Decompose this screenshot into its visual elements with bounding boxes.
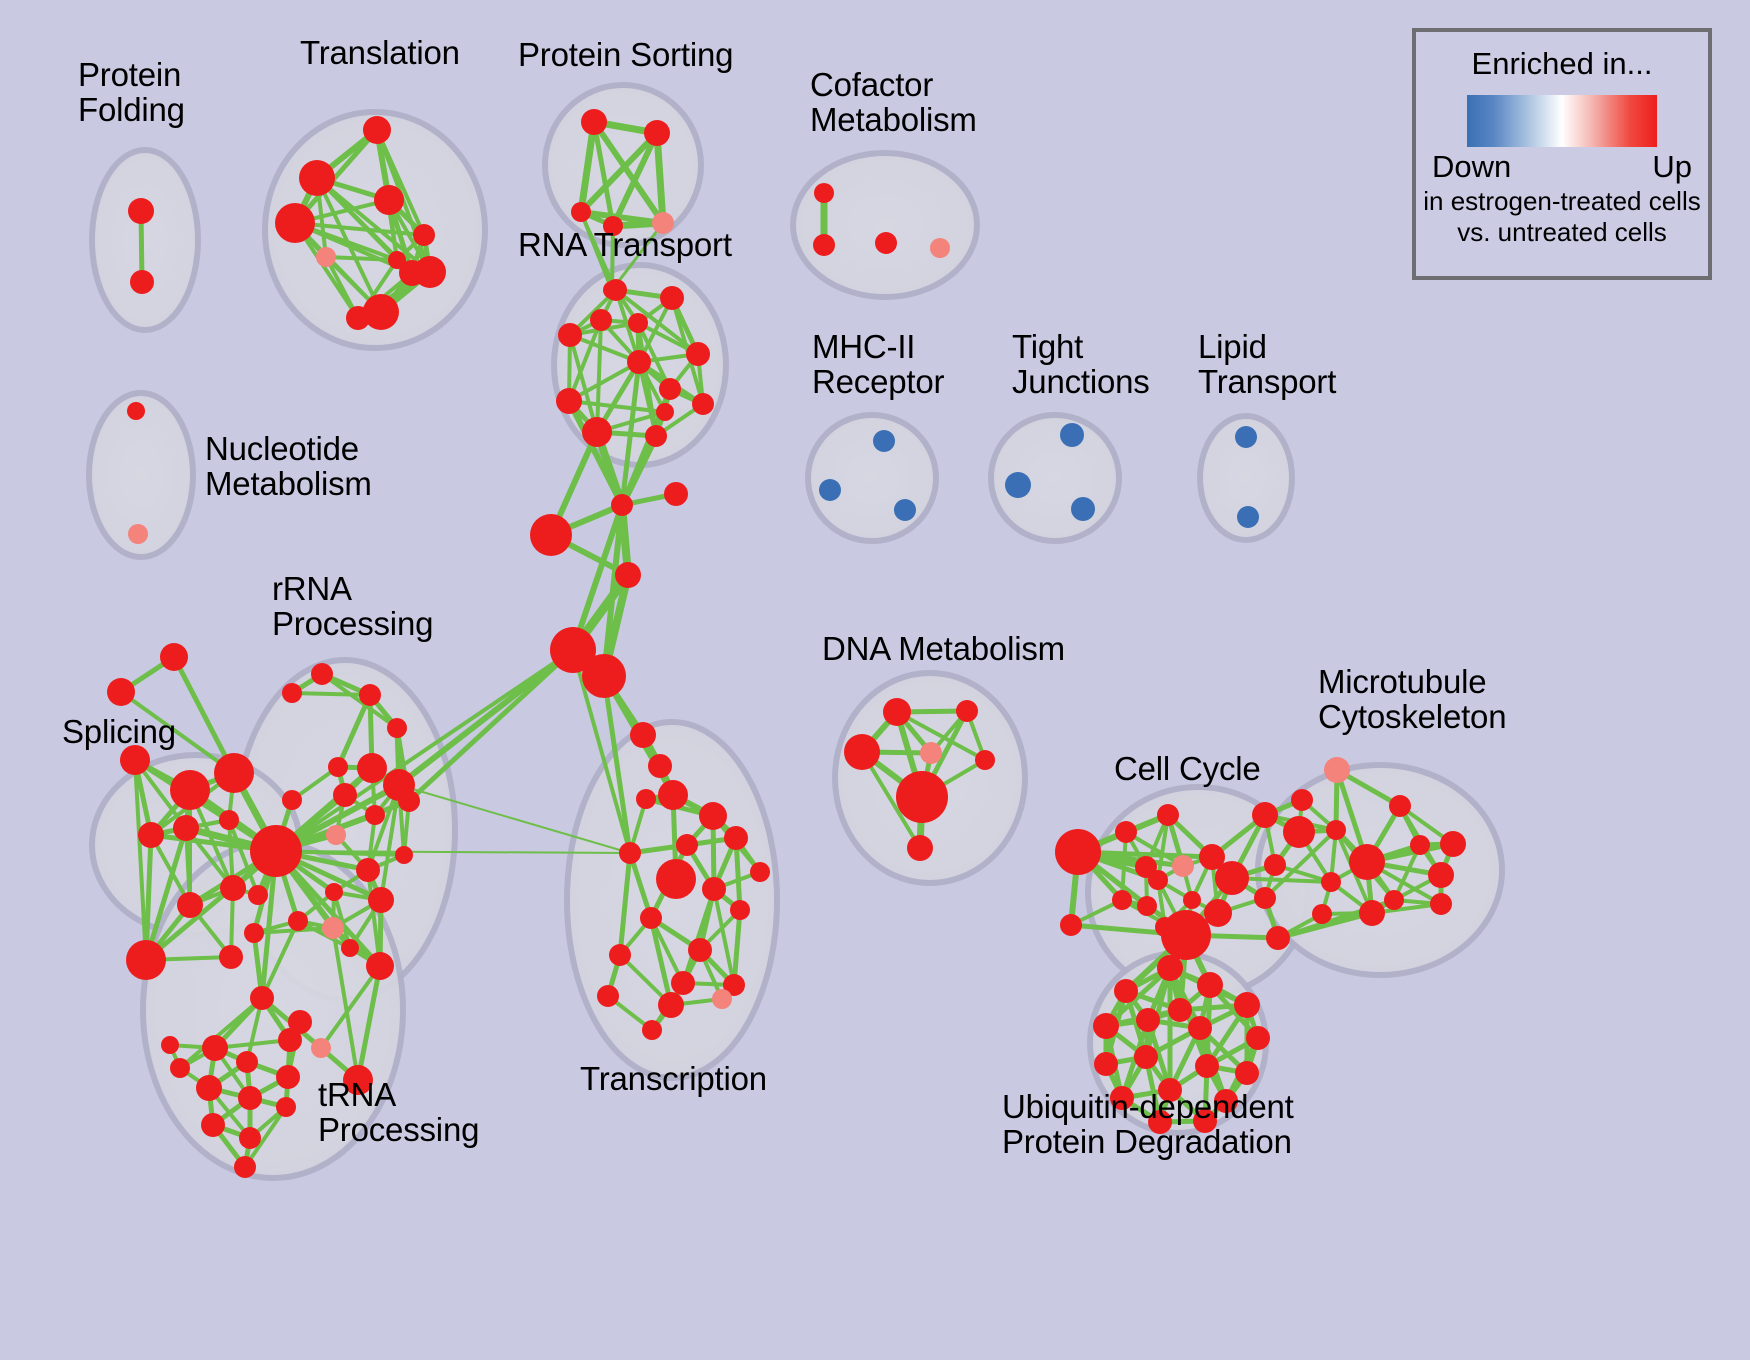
network-node[interactable] [1168, 998, 1192, 1022]
network-node[interactable] [930, 238, 950, 258]
network-node[interactable] [126, 940, 166, 980]
network-node[interactable] [288, 911, 308, 931]
network-node[interactable] [627, 350, 651, 374]
cluster-label-nucleotide-metabolism: NucleotideMetabolism [205, 432, 372, 502]
network-node[interactable] [648, 754, 672, 778]
network-node[interactable] [368, 887, 394, 913]
network-node[interactable] [659, 378, 681, 400]
network-node[interactable] [214, 753, 254, 793]
network-node[interactable] [311, 663, 333, 685]
cluster-label-line: Metabolism [810, 103, 977, 138]
network-node[interactable] [128, 198, 154, 224]
network-node[interactable] [170, 1058, 190, 1078]
network-node[interactable] [177, 892, 203, 918]
network-node[interactable] [1157, 955, 1183, 981]
cluster-label-line: Processing [272, 607, 433, 642]
network-node[interactable] [896, 771, 948, 823]
network-node[interactable] [196, 1075, 222, 1101]
network-node[interactable] [276, 1065, 300, 1089]
network-node[interactable] [656, 403, 674, 421]
network-node[interactable] [605, 279, 627, 301]
network-node[interactable] [363, 294, 399, 330]
network-edge [292, 693, 370, 695]
network-node[interactable] [1204, 899, 1232, 927]
network-node[interactable] [630, 722, 656, 748]
network-node[interactable] [636, 789, 656, 809]
network-node[interactable] [202, 1035, 228, 1061]
network-node[interactable] [326, 825, 346, 845]
network-node[interactable] [1324, 757, 1350, 783]
cluster-label-line: Transport [1198, 365, 1336, 400]
network-node[interactable] [234, 1156, 256, 1178]
network-node[interactable] [1410, 835, 1430, 855]
network-node[interactable] [282, 790, 302, 810]
network-node[interactable] [628, 313, 648, 333]
cluster-label-mhc-ii-receptor: MHC-IIReceptor [812, 330, 944, 400]
network-node[interactable] [1326, 820, 1346, 840]
network-node[interactable] [1183, 891, 1201, 909]
network-node[interactable] [1112, 890, 1132, 910]
cluster-label-rna-transport: RNA Transport [518, 228, 732, 263]
network-node[interactable] [161, 1036, 179, 1054]
network-node[interactable] [1389, 795, 1411, 817]
network-node[interactable] [1195, 1054, 1219, 1078]
network-node[interactable] [127, 402, 145, 420]
network-node[interactable] [1264, 854, 1286, 876]
network-node[interactable] [173, 815, 199, 841]
cluster-label-line: Metabolism [205, 467, 372, 502]
network-node[interactable] [366, 952, 394, 980]
cluster-hull-mhc-ii-receptor [808, 415, 936, 541]
network-node[interactable] [1428, 862, 1454, 888]
network-node[interactable] [390, 771, 408, 789]
network-node[interactable] [311, 1038, 331, 1058]
network-node[interactable] [363, 116, 391, 144]
network-node[interactable] [413, 224, 435, 246]
network-node[interactable] [220, 875, 246, 901]
network-node[interactable] [819, 479, 841, 501]
network-node[interactable] [664, 482, 688, 506]
network-node[interactable] [387, 718, 407, 738]
network-node[interactable] [640, 907, 662, 929]
network-node[interactable] [1215, 861, 1249, 895]
cluster-label-line: tRNA [318, 1078, 479, 1113]
cluster-label-line: rRNA [272, 572, 433, 607]
network-node[interactable] [558, 323, 582, 347]
network-node[interactable] [1094, 1052, 1118, 1076]
network-node[interactable] [236, 1051, 258, 1073]
network-node[interactable] [275, 203, 315, 243]
cluster-label-line: Processing [318, 1113, 479, 1148]
network-node[interactable] [288, 1010, 312, 1034]
cluster-label-line: Folding [78, 93, 185, 128]
network-node[interactable] [359, 684, 381, 706]
cluster-label-line: Cell Cycle [1114, 752, 1261, 787]
network-node[interactable] [692, 393, 714, 415]
network-node[interactable] [239, 1127, 261, 1149]
network-node[interactable] [357, 753, 387, 783]
cluster-label-line: Protein Degradation [1002, 1125, 1294, 1160]
network-node[interactable] [875, 232, 897, 254]
network-node[interactable] [333, 783, 357, 807]
network-node[interactable] [276, 1097, 296, 1117]
network-node[interactable] [250, 986, 274, 1010]
legend-down-label: Down [1432, 149, 1511, 185]
network-node[interactable] [1115, 821, 1137, 843]
network-node[interactable] [325, 883, 343, 901]
network-node[interactable] [1148, 870, 1168, 890]
network-node[interactable] [170, 770, 210, 810]
network-node[interactable] [642, 1020, 662, 1040]
network-node[interactable] [1188, 1016, 1212, 1040]
cluster-label-cell-cycle: Cell Cycle [1114, 752, 1261, 787]
network-node[interactable] [1055, 829, 1101, 875]
cluster-label-dna-metabolism: DNA Metabolism [822, 632, 1065, 667]
cluster-label-protein-folding: ProteinFolding [78, 58, 185, 128]
network-node[interactable] [656, 859, 696, 899]
network-node[interactable] [894, 499, 916, 521]
network-node[interactable] [1266, 926, 1290, 950]
cluster-hull-transcription [567, 722, 777, 1078]
network-node[interactable] [1384, 890, 1404, 910]
cluster-label-line: Cofactor [810, 68, 977, 103]
network-node[interactable] [699, 802, 727, 830]
network-node[interactable] [1161, 910, 1211, 960]
cluster-label-line: DNA Metabolism [822, 632, 1065, 667]
cluster-label-line: Junctions [1012, 365, 1150, 400]
legend-caption-line1: in estrogen-treated cells [1416, 187, 1708, 216]
network-node[interactable] [130, 270, 154, 294]
network-node[interactable] [138, 822, 164, 848]
cluster-label-line: Transcription [580, 1062, 767, 1097]
network-node[interactable] [883, 698, 911, 726]
network-node[interactable] [299, 160, 335, 196]
network-node[interactable] [660, 286, 684, 310]
network-node[interactable] [219, 945, 243, 969]
network-node[interactable] [201, 1113, 225, 1137]
network-node[interactable] [582, 654, 626, 698]
network-node[interactable] [609, 944, 631, 966]
network-node[interactable] [328, 757, 348, 777]
network-node[interactable] [530, 514, 572, 556]
cluster-label-line: Nucleotide [205, 432, 372, 467]
network-node[interactable] [316, 247, 336, 267]
legend-panel: Enriched in... Down Up in estrogen-treat… [1412, 28, 1712, 280]
network-node[interactable] [1197, 972, 1223, 998]
cluster-label-trna-processing: tRNAProcessing [318, 1078, 479, 1148]
network-node[interactable] [244, 923, 264, 943]
network-node[interactable] [975, 750, 995, 770]
network-node[interactable] [645, 425, 667, 447]
cluster-label-cofactor-metabolism: CofactorMetabolism [810, 68, 977, 138]
network-node[interactable] [1071, 497, 1095, 521]
network-node[interactable] [658, 780, 688, 810]
network-node[interactable] [590, 309, 612, 331]
cluster-label-line: MHC-II [812, 330, 944, 365]
network-node[interactable] [238, 1086, 262, 1110]
network-node[interactable] [688, 938, 712, 962]
network-node[interactable] [907, 835, 933, 861]
network-node[interactable] [1137, 896, 1157, 916]
cluster-label-line: Protein Sorting [518, 38, 733, 73]
network-node[interactable] [1172, 855, 1194, 877]
legend-colorbar [1467, 95, 1657, 147]
network-node[interactable] [1134, 1045, 1158, 1069]
cluster-label-translation: Translation [300, 36, 460, 71]
network-node[interactable] [1430, 893, 1452, 915]
cluster-label-tight-junctions: TightJunctions [1012, 330, 1150, 400]
network-node[interactable] [644, 120, 670, 146]
cluster-label-line: Tight [1012, 330, 1150, 365]
network-node[interactable] [1254, 887, 1276, 909]
cluster-label-line: Microtubule [1318, 665, 1506, 700]
legend-endpoints: Down Up [1416, 147, 1708, 185]
cluster-label-line: Receptor [812, 365, 944, 400]
network-node[interactable] [712, 989, 732, 1009]
network-node[interactable] [1283, 816, 1315, 848]
network-node[interactable] [282, 683, 302, 703]
network-node[interactable] [597, 985, 619, 1007]
network-node[interactable] [814, 183, 834, 203]
network-node[interactable] [582, 417, 612, 447]
network-node[interactable] [1359, 900, 1385, 926]
network-node[interactable] [341, 939, 359, 957]
cluster-label-line: Cytoskeleton [1318, 700, 1506, 735]
cluster-label-line: Translation [300, 36, 460, 71]
network-node[interactable] [250, 825, 302, 877]
cluster-label-protein-sorting: Protein Sorting [518, 38, 733, 73]
network-node[interactable] [414, 256, 446, 288]
network-node[interactable] [873, 430, 895, 452]
network-node[interactable] [322, 917, 344, 939]
cluster-label-rrna-processing: rRNAProcessing [272, 572, 433, 642]
network-node[interactable] [1349, 844, 1385, 880]
network-node[interactable] [1235, 426, 1257, 448]
network-node[interactable] [128, 524, 148, 544]
network-node[interactable] [107, 678, 135, 706]
network-node[interactable] [1157, 804, 1179, 826]
network-node[interactable] [248, 885, 268, 905]
legend-title: Enriched in... [1416, 46, 1708, 82]
network-node[interactable] [619, 842, 641, 864]
network-node[interactable] [556, 388, 582, 414]
network-node[interactable] [160, 643, 188, 671]
cluster-hull-protein-folding [92, 150, 198, 330]
network-node[interactable] [1060, 914, 1082, 936]
cluster-label-line: Lipid [1198, 330, 1336, 365]
network-node[interactable] [1291, 789, 1313, 811]
network-node[interactable] [1114, 979, 1138, 1003]
cluster-label-lipid-transport: LipidTransport [1198, 330, 1336, 400]
network-node[interactable] [356, 858, 380, 882]
network-node[interactable] [1321, 872, 1341, 892]
legend-up-label: Up [1652, 149, 1692, 185]
network-node[interactable] [844, 734, 880, 770]
cluster-label-microtubule-cytoskeleton: MicrotubuleCytoskeleton [1318, 665, 1506, 735]
cluster-label-line: Splicing [62, 715, 176, 750]
network-node[interactable] [658, 992, 684, 1018]
network-node[interactable] [750, 862, 770, 882]
network-node[interactable] [611, 494, 633, 516]
network-node[interactable] [920, 742, 942, 764]
network-node[interactable] [686, 342, 710, 366]
network-node[interactable] [1440, 831, 1466, 857]
network-node[interactable] [1060, 423, 1084, 447]
cluster-label-ubiquitin-protein-degradation: Ubiquitin-dependentProtein Degradation [1002, 1090, 1294, 1160]
network-node[interactable] [1235, 1061, 1259, 1085]
network-node[interactable] [676, 834, 698, 856]
network-figure: ProteinFoldingTranslationProtein Sorting… [0, 0, 1750, 1360]
network-node[interactable] [1005, 472, 1031, 498]
legend-caption-line2: vs. untreated cells [1416, 218, 1708, 247]
network-node[interactable] [365, 805, 385, 825]
network-node[interactable] [615, 562, 641, 588]
network-node[interactable] [671, 971, 695, 995]
cluster-label-line: Protein [78, 58, 185, 93]
cluster-label-line: Ubiquitin-dependent [1002, 1090, 1294, 1125]
network-node[interactable] [730, 900, 750, 920]
network-node[interactable] [1234, 992, 1260, 1018]
network-node[interactable] [813, 234, 835, 256]
network-node[interactable] [1312, 904, 1332, 924]
network-node[interactable] [702, 877, 726, 901]
network-node[interactable] [219, 810, 239, 830]
cluster-label-line: RNA Transport [518, 228, 732, 263]
network-node[interactable] [1237, 506, 1259, 528]
network-node[interactable] [581, 109, 607, 135]
network-node[interactable] [374, 185, 404, 215]
network-node[interactable] [1246, 1026, 1270, 1050]
network-node[interactable] [1093, 1013, 1119, 1039]
cluster-label-transcription: Transcription [580, 1062, 767, 1097]
network-node[interactable] [956, 700, 978, 722]
network-node[interactable] [1136, 1008, 1160, 1032]
network-node[interactable] [724, 826, 748, 850]
cluster-label-splicing: Splicing [62, 715, 176, 750]
network-node[interactable] [395, 846, 413, 864]
network-node[interactable] [571, 202, 591, 222]
network-node[interactable] [1252, 802, 1278, 828]
